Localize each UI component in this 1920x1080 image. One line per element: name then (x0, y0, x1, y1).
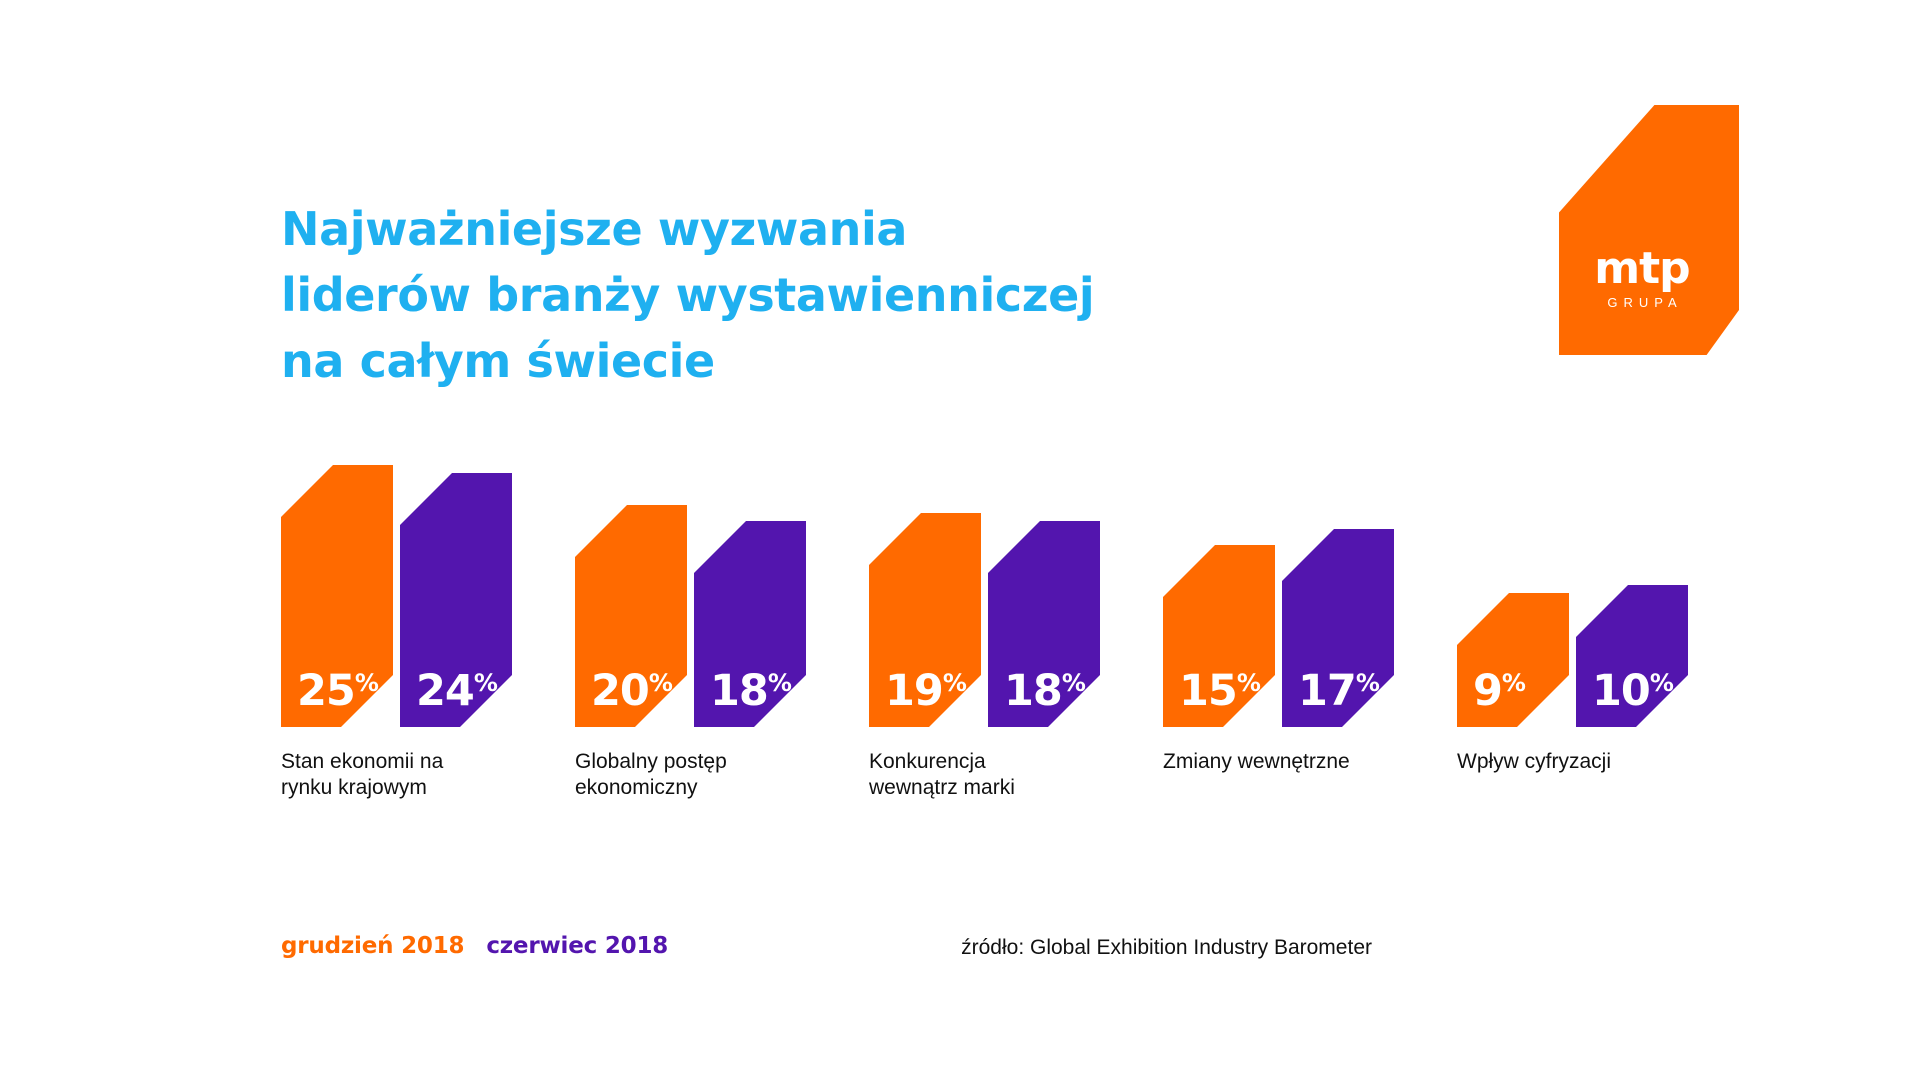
source-note: źródło: Global Exhibition Industry Barom… (961, 936, 1372, 960)
bar-value-number: 17 (1298, 666, 1356, 716)
percent-sign: % (1502, 669, 1526, 697)
bar-orange-25: 25% (281, 465, 393, 727)
bar-value-number: 24 (416, 666, 474, 716)
bar-value-label: 19% (885, 662, 967, 713)
chart-legend: grudzień 2018czerwiec 2018 (281, 933, 668, 959)
bar-value-number: 15 (1179, 666, 1237, 716)
bar-value-label: 18% (1004, 662, 1086, 713)
percent-sign: % (768, 669, 792, 697)
bar-value-label: 9% (1473, 662, 1526, 713)
bar-value-label: 15% (1179, 662, 1261, 713)
bar-orange-19: 19% (869, 513, 981, 727)
category-label: Wpływ cyfryzacji (1457, 749, 1687, 775)
bar-value-number: 10 (1592, 666, 1650, 716)
bar-value-label: 20% (591, 662, 673, 713)
bar-value-number: 18 (1004, 666, 1062, 716)
bar-chart: 25%24%20%18%19%18%15%17%9%10% Stan ekono… (0, 0, 1920, 1080)
legend-item: grudzień 2018 (281, 933, 464, 959)
percent-sign: % (649, 669, 673, 697)
bar-orange-15: 15% (1163, 545, 1275, 727)
bar-value-label: 10% (1592, 662, 1674, 713)
percent-sign: % (1650, 669, 1674, 697)
bar-value-label: 17% (1298, 662, 1380, 713)
bar-purple-17: 17% (1282, 529, 1394, 727)
percent-sign: % (943, 669, 967, 697)
category-label: Globalny postęp ekonomiczny (575, 749, 805, 801)
bar-value-number: 25 (297, 666, 355, 716)
percent-sign: % (355, 669, 379, 697)
bar-value-number: 19 (885, 666, 943, 716)
percent-sign: % (1062, 669, 1086, 697)
category-label: Konkurencja wewnątrz marki (869, 749, 1099, 801)
category-label: Stan ekonomii na rynku krajowym (281, 749, 511, 801)
bar-purple-18: 18% (694, 521, 806, 727)
bar-value-label: 24% (416, 662, 498, 713)
bar-orange-9: 9% (1457, 593, 1569, 727)
percent-sign: % (1356, 669, 1380, 697)
percent-sign: % (1237, 669, 1261, 697)
category-label: Zmiany wewnętrzne (1163, 749, 1393, 775)
bar-purple-10: 10% (1576, 585, 1688, 727)
bar-value-label: 25% (297, 662, 379, 713)
bar-orange-20: 20% (575, 505, 687, 727)
percent-sign: % (474, 669, 498, 697)
bar-value-number: 18 (710, 666, 768, 716)
bar-purple-24: 24% (400, 473, 512, 727)
bar-value-number: 9 (1473, 666, 1502, 716)
bar-value-number: 20 (591, 666, 649, 716)
bar-purple-18: 18% (988, 521, 1100, 727)
legend-item: czerwiec 2018 (486, 933, 668, 959)
bar-value-label: 18% (710, 662, 792, 713)
